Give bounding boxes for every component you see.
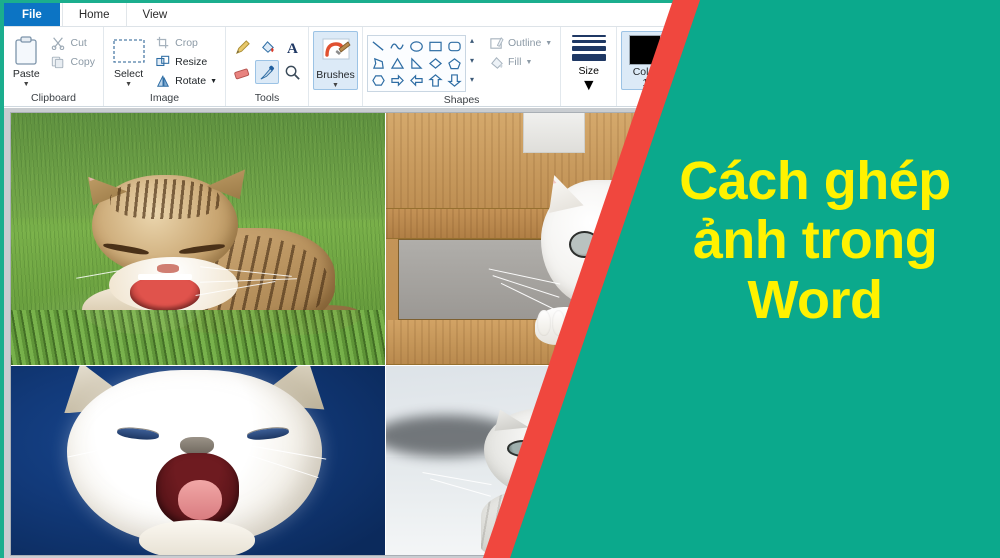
- ribbon-group-shapes: ▴ ▾ ▾ Outline: [363, 27, 561, 106]
- paintbrush-icon: [321, 34, 351, 70]
- copy-button[interactable]: Copy: [46, 53, 99, 71]
- brushes-label: Brushes: [316, 70, 355, 81]
- rotate-icon: [155, 73, 171, 89]
- overlay-title: Cách ghép ảnh trong Word: [640, 152, 990, 330]
- select-button[interactable]: Select ▼: [108, 31, 149, 88]
- shape-right-triangle[interactable]: [407, 55, 426, 72]
- shape-hexagon[interactable]: [369, 72, 388, 89]
- size-dropdown-arrow[interactable]: ▼: [581, 77, 597, 95]
- ribbon: Paste ▼ Cut: [4, 27, 700, 107]
- svg-text:A: A: [287, 41, 298, 56]
- group-label-tools: Tools: [230, 90, 304, 106]
- size-lines-icon: [572, 35, 606, 61]
- shape-curve[interactable]: [388, 38, 407, 55]
- tool-color-picker[interactable]: [255, 60, 279, 84]
- fill-dropdown-arrow[interactable]: ▼: [525, 59, 532, 66]
- brushes-dropdown-arrow[interactable]: ▼: [332, 82, 339, 89]
- ribbon-group-brushes: Brushes ▼: [309, 27, 363, 106]
- cut-button[interactable]: Cut: [46, 34, 99, 52]
- copy-label: Copy: [70, 56, 95, 68]
- shape-rectangle[interactable]: [426, 38, 445, 55]
- outline-button[interactable]: Outline ▼: [484, 34, 556, 52]
- clipboard-icon: [13, 33, 39, 69]
- tool-eraser[interactable]: [230, 60, 254, 84]
- size-button[interactable]: Size ▼: [565, 31, 612, 95]
- fill-label: Fill: [508, 56, 521, 68]
- overlay-title-line-1: Cách ghép: [640, 152, 990, 211]
- teal-border-left: [0, 0, 4, 558]
- group-label-brushes: [313, 90, 358, 106]
- photo-top-left[interactable]: [11, 113, 385, 365]
- tool-magnifier[interactable]: [280, 60, 304, 84]
- shape-right-arrow[interactable]: [388, 72, 407, 89]
- rotate-dropdown-arrow[interactable]: ▼: [210, 78, 217, 85]
- screenshot-root: File Home View: [0, 0, 1000, 558]
- crop-button[interactable]: Crop: [151, 34, 221, 52]
- select-dropdown-arrow[interactable]: ▼: [125, 81, 132, 88]
- tool-fill-with-color[interactable]: [255, 35, 279, 59]
- tool-pencil[interactable]: [230, 35, 254, 59]
- rotate-button[interactable]: Rotate ▼: [151, 72, 221, 90]
- paste-dropdown-arrow[interactable]: ▼: [23, 81, 30, 88]
- fill-with-color-icon: [259, 39, 276, 56]
- selection-rectangle-icon: [112, 33, 146, 69]
- cut-label: Cut: [70, 37, 86, 49]
- shapes-gallery[interactable]: [367, 35, 466, 92]
- color-picker-icon: [259, 64, 276, 81]
- fill-icon: [488, 54, 504, 70]
- text-a-icon: A: [284, 39, 301, 56]
- scissors-icon: [50, 35, 66, 51]
- outline-label: Outline: [508, 37, 541, 49]
- overlay-title-line-2: ảnh trong: [640, 211, 990, 270]
- pencil-icon: [234, 39, 251, 56]
- brushes-button[interactable]: Brushes ▼: [313, 31, 358, 90]
- magnifier-icon: [284, 64, 301, 81]
- crop-label: Crop: [175, 37, 198, 49]
- shape-down-arrow[interactable]: [445, 72, 464, 89]
- copy-icon: [50, 54, 66, 70]
- resize-icon: [155, 54, 171, 70]
- rotate-label: Rotate: [175, 75, 206, 87]
- paste-label: Paste: [13, 69, 40, 80]
- tab-home[interactable]: Home: [62, 3, 127, 26]
- tab-view[interactable]: View: [127, 3, 184, 26]
- size-label: Size: [579, 65, 599, 77]
- eraser-icon: [234, 64, 251, 81]
- shape-oval[interactable]: [407, 38, 426, 55]
- ribbon-group-image: Select ▼ Crop: [104, 27, 226, 106]
- group-label-shapes: Shapes: [367, 92, 556, 108]
- ribbon-group-clipboard: Paste ▼ Cut: [4, 27, 104, 106]
- shape-left-arrow[interactable]: [407, 72, 426, 89]
- tab-file-label: File: [22, 9, 42, 21]
- shape-diamond[interactable]: [426, 55, 445, 72]
- ribbon-group-size: Size ▼: [561, 27, 617, 106]
- resize-label: Resize: [175, 56, 207, 68]
- select-label: Select: [114, 69, 143, 80]
- shape-triangle[interactable]: [388, 55, 407, 72]
- shapes-scroll-controls[interactable]: ▴ ▾ ▾: [470, 36, 474, 84]
- fill-button[interactable]: Fill ▼: [484, 53, 556, 71]
- shape-up-arrow[interactable]: [426, 72, 445, 89]
- crop-icon: [155, 35, 171, 51]
- outline-icon: [488, 35, 504, 51]
- overlay-title-line-3: Word: [640, 271, 990, 330]
- ribbon-group-tools: A: [226, 27, 309, 106]
- tool-text[interactable]: A: [280, 35, 304, 59]
- group-label-image: Image: [108, 90, 221, 106]
- outline-dropdown-arrow[interactable]: ▼: [545, 40, 552, 47]
- teal-border-top: [0, 0, 700, 3]
- shape-polygon[interactable]: [369, 55, 388, 72]
- paste-button[interactable]: Paste ▼: [8, 31, 44, 88]
- tab-view-label: View: [143, 9, 168, 21]
- more-shapes-icon[interactable]: ▾: [470, 75, 474, 84]
- group-label-size: [565, 95, 612, 106]
- shape-pentagon[interactable]: [445, 55, 464, 72]
- tab-file[interactable]: File: [4, 3, 60, 26]
- resize-button[interactable]: Resize: [151, 53, 221, 71]
- ribbon-tab-strip: File Home View: [4, 3, 700, 27]
- scroll-up-icon[interactable]: ▴: [470, 36, 474, 45]
- photo-bottom-left[interactable]: [11, 365, 385, 555]
- group-label-clipboard: Clipboard: [8, 90, 99, 106]
- shape-line[interactable]: [369, 38, 388, 55]
- scroll-down-icon[interactable]: ▾: [470, 56, 474, 65]
- shape-rounded-rectangle[interactable]: [445, 38, 464, 55]
- tab-home-label: Home: [79, 9, 110, 21]
